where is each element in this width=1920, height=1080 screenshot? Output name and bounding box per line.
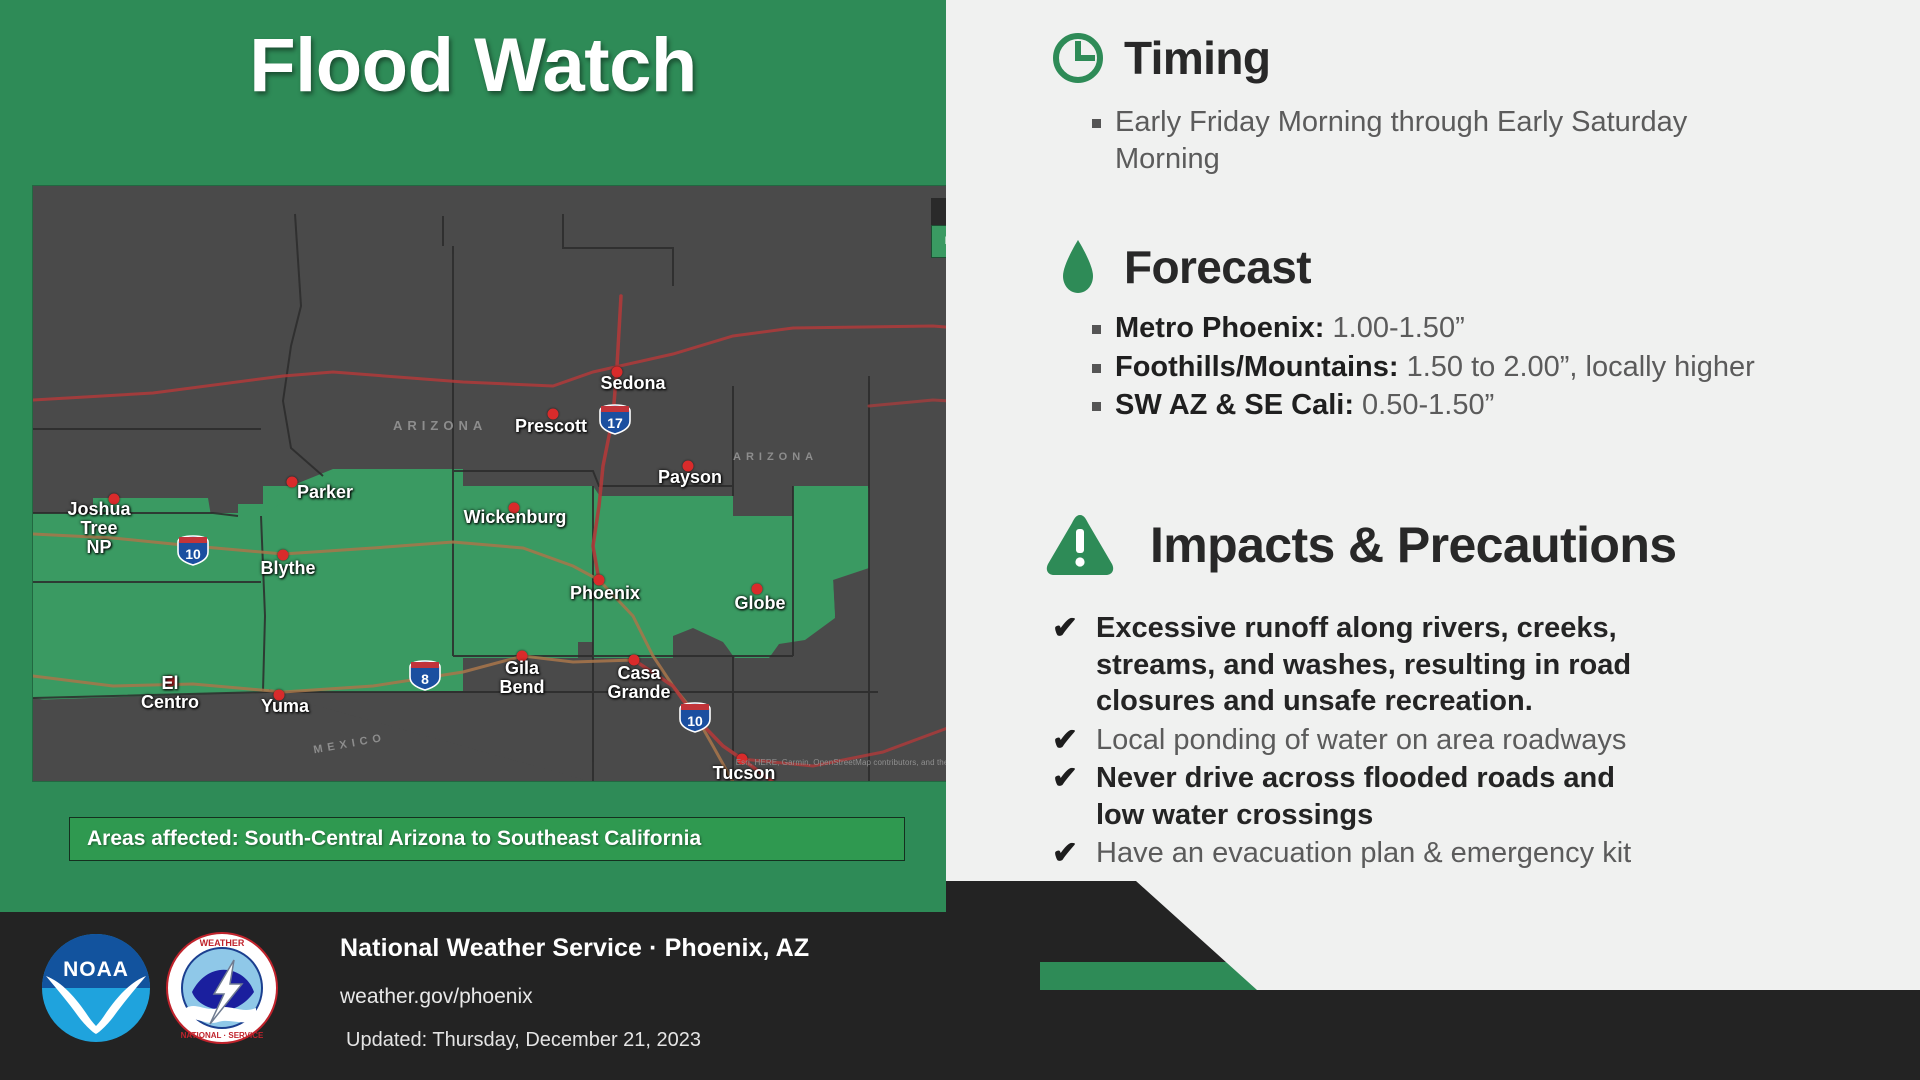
svg-text:10: 10 — [687, 713, 703, 729]
city-dot — [752, 584, 763, 595]
square-bullet-icon — [1092, 325, 1101, 334]
impacts-heading: Impacts & Precautions — [1040, 512, 1920, 578]
forecast-bullet-item: Foothills/Mountains: 1.50 to 2.00”, loca… — [1092, 349, 1810, 386]
interstate-shield-8: 8 — [408, 659, 442, 691]
forecast-value: 1.00-1.50” — [1324, 312, 1464, 344]
city-dot — [683, 461, 694, 472]
impacts-list-item: ✔ Local ponding of water on area roadway… — [1052, 722, 1920, 759]
svg-text:NOAA: NOAA — [63, 958, 129, 981]
svg-text:17: 17 — [607, 415, 623, 431]
svg-text:10: 10 — [185, 546, 201, 562]
square-bullet-icon — [1092, 402, 1101, 411]
svg-text:8: 8 — [421, 671, 429, 687]
noaa-logo: NOAA — [40, 932, 152, 1044]
forecast-label: SW AZ & SE Cali: — [1115, 389, 1354, 421]
checkmark-icon: ✔ — [1052, 610, 1082, 647]
impacts-item-text: Never drive across flooded roads and low… — [1096, 760, 1656, 833]
water-drop-icon — [1050, 236, 1106, 298]
city-dot — [548, 409, 559, 420]
forecast-value: 1.50 to 2.00”, locally higher — [1399, 351, 1755, 383]
state-label-arizona-2: ARIZONA — [733, 451, 818, 463]
agency-logos: NOAA WEATHER NATIONAL · SERVICE — [40, 932, 278, 1044]
forecast-label: Foothills/Mountains: — [1115, 351, 1399, 383]
interstate-shield-17: 17 — [598, 403, 632, 435]
nws-logo: WEATHER NATIONAL · SERVICE — [166, 932, 278, 1044]
forecast-title: Forecast — [1124, 244, 1311, 290]
city-dot — [109, 494, 120, 505]
section-forecast: Forecast Metro Phoenix: 1.00-1.50” Footh… — [1050, 236, 1810, 426]
forecast-heading: Forecast — [1050, 236, 1810, 298]
timing-bullet-text: Early Friday Morning through Early Satur… — [1115, 104, 1695, 177]
graphic-root: Flood Watch — [0, 0, 1920, 1080]
forecast-bullets: Metro Phoenix: 1.00-1.50” Foothills/Moun… — [1092, 310, 1810, 424]
svg-text:NATIONAL · SERVICE: NATIONAL · SERVICE — [181, 1031, 264, 1040]
section-impacts: Impacts & Precautions ✔ Excessive runoff… — [1040, 512, 1920, 874]
impacts-list: ✔ Excessive runoff along rivers, creeks,… — [1052, 610, 1920, 872]
impacts-item-text: Local ponding of water on area roadways — [1096, 722, 1626, 759]
checkmark-icon: ✔ — [1052, 835, 1082, 872]
city-dot — [594, 575, 605, 586]
city-dot — [629, 655, 640, 666]
interstate-shield-10-south: 10 — [678, 701, 712, 733]
checkmark-icon: ✔ — [1052, 760, 1082, 797]
forecast-value: 0.50-1.50” — [1354, 389, 1494, 421]
page-title: Flood Watch — [0, 22, 946, 109]
map-canvas: ARIZONA ARIZONA MEXICO Sedona Prescott P… — [33, 186, 1033, 781]
clock-icon — [1050, 30, 1106, 86]
section-timing: Timing Early Friday Morning through Earl… — [1050, 30, 1770, 179]
areas-affected-banner: Areas affected: South-Central Arizona to… — [69, 817, 905, 861]
map-geometry — [33, 186, 1033, 781]
hazard-map[interactable]: ARIZONA ARIZONA MEXICO Sedona Prescott P… — [33, 186, 1033, 781]
impacts-title: Impacts & Precautions — [1150, 520, 1676, 570]
impacts-item-text: Have an evacuation plan & emergency kit — [1096, 835, 1631, 872]
impacts-list-item: ✔ Have an evacuation plan & emergency ki… — [1052, 835, 1920, 872]
city-dot — [517, 651, 528, 662]
timing-title: Timing — [1124, 35, 1270, 81]
state-label-arizona: ARIZONA — [393, 418, 487, 433]
forecast-label: Metro Phoenix: — [1115, 312, 1324, 344]
forecast-bullet-item: Metro Phoenix: 1.00-1.50” — [1092, 310, 1810, 347]
footer-url[interactable]: weather.gov/phoenix — [340, 985, 809, 1009]
square-bullet-icon — [1092, 119, 1101, 128]
impacts-list-item: ✔ Excessive runoff along rivers, creeks,… — [1052, 610, 1920, 720]
footer-text-block: National Weather Service · Phoenix, AZ w… — [340, 934, 809, 1052]
forecast-bullet-item: SW AZ & SE Cali: 0.50-1.50” — [1092, 387, 1810, 424]
city-dot — [278, 550, 289, 561]
timing-bullets: Early Friday Morning through Early Satur… — [1092, 104, 1770, 177]
footer-bar: NOAA WEATHER NATIONAL · SERVICE National… — [0, 912, 946, 1080]
square-bullet-icon — [1092, 364, 1101, 373]
city-dot — [274, 690, 285, 701]
city-dot — [612, 367, 623, 378]
city-dot — [509, 503, 520, 514]
timing-heading: Timing — [1050, 30, 1770, 86]
footer-updated: Updated: Thursday, December 21, 2023 — [340, 1029, 809, 1052]
city-dot — [287, 477, 298, 488]
warning-triangle-icon — [1040, 512, 1120, 578]
interstate-shield-10-west: 10 — [176, 534, 210, 566]
checkmark-icon: ✔ — [1052, 722, 1082, 759]
impacts-item-text: Excessive runoff along rivers, creeks, s… — [1096, 610, 1736, 720]
impacts-list-item: ✔ Never drive across flooded roads and l… — [1052, 760, 1920, 833]
svg-text:WEATHER: WEATHER — [200, 938, 245, 948]
city-dot — [165, 676, 176, 687]
timing-bullet-item: Early Friday Morning through Early Satur… — [1092, 104, 1770, 177]
footer-office: National Weather Service · Phoenix, AZ — [340, 934, 809, 963]
